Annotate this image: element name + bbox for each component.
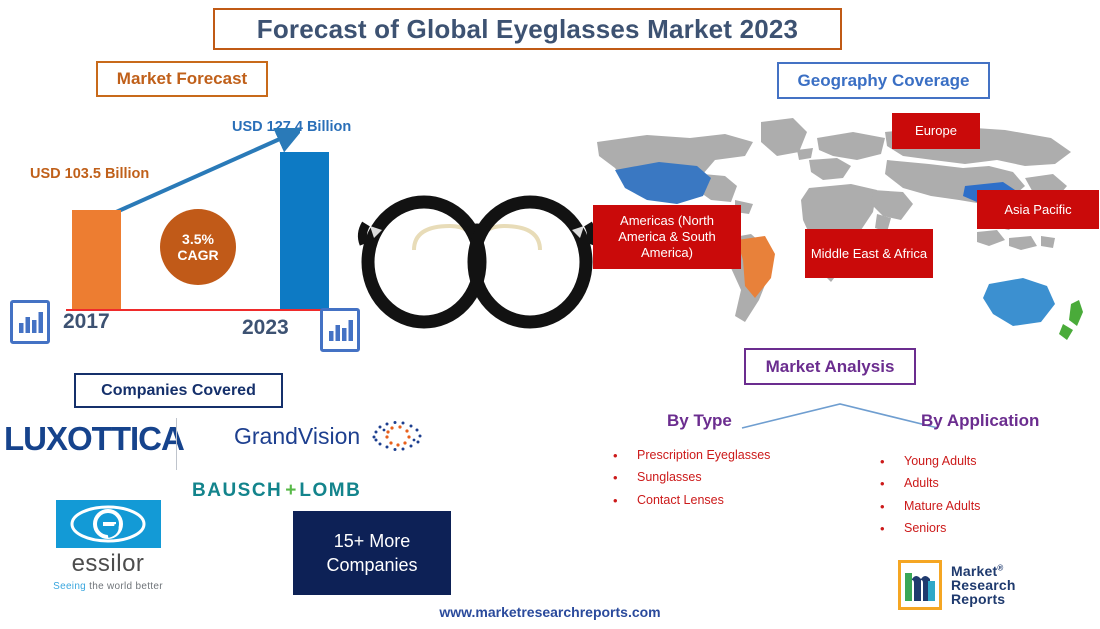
list-item: Prescription Eyeglasses — [605, 444, 770, 466]
region-label-americas: Americas (North America & South America) — [593, 205, 741, 269]
cagr-badge: 3.5% CAGR — [160, 209, 236, 285]
section-header-market-analysis-label: Market Analysis — [766, 357, 895, 377]
growth-arrow-icon — [110, 128, 300, 218]
analysis-connector-line — [740, 400, 940, 430]
list-item: Seniors — [872, 517, 980, 539]
logo-divider — [176, 418, 177, 470]
bar-2017 — [72, 210, 121, 310]
logo-grandvision: GrandVision — [234, 418, 454, 454]
axis-label-2017: 2017 — [63, 310, 110, 334]
logo-luxottica-text: LUXOTTICA — [4, 420, 179, 458]
logo-bausch-lomb: BAUSCH + LOMB — [192, 478, 392, 504]
section-header-geography-label: Geography Coverage — [798, 71, 970, 91]
section-header-market-forecast-label: Market Forecast — [117, 69, 247, 89]
logo-luxottica: LUXOTTICA — [4, 420, 179, 466]
list-item: Sunglasses — [605, 466, 770, 488]
bar-2023 — [280, 152, 329, 310]
section-header-companies-label: Companies Covered — [101, 382, 256, 400]
registered-mark-icon: ® — [997, 563, 1003, 572]
essilor-wordmark: essilor — [38, 550, 178, 578]
essilor-tagline-gray: the world better — [86, 581, 163, 592]
by-type-heading: By Type — [667, 411, 732, 431]
market-research-reports-logo: Market® Research Reports — [898, 557, 1088, 613]
list-item: Young Adults — [872, 450, 980, 472]
cagr-percent: 3.5% — [182, 231, 214, 247]
by-type-list: Prescription Eyeglasses Sunglasses Conta… — [605, 444, 770, 511]
mrr-line-2: Research — [951, 578, 1016, 592]
bar-chart-icon — [10, 300, 50, 344]
region-label-middle-east-africa: Middle East & Africa — [805, 229, 933, 278]
mrr-line-1: Market® — [951, 564, 1016, 578]
region-label-europe: Europe — [892, 113, 980, 149]
mrr-monogram-icon — [898, 560, 942, 610]
axis-label-2023: 2023 — [242, 316, 289, 340]
logo-essilor: essilor Seeing the world better — [38, 500, 178, 598]
logo-bausch-word1: BAUSCH — [192, 480, 282, 502]
logo-bausch-word2: LOMB — [299, 480, 361, 502]
infographic-page: Forecast of Global Eyeglasses Market 202… — [0, 0, 1100, 629]
grandvision-eye-icon — [370, 419, 426, 453]
essilor-tagline-blue: Seeing — [53, 581, 86, 592]
more-companies-badge: 15+ More Companies — [293, 511, 451, 595]
list-item: Adults — [872, 472, 980, 494]
list-item: Mature Adults — [872, 495, 980, 517]
section-header-companies-covered: Companies Covered — [74, 373, 283, 408]
list-item: Contact Lenses — [605, 489, 770, 511]
page-title: Forecast of Global Eyeglasses Market 202… — [213, 8, 842, 50]
essilor-eye-icon — [56, 500, 161, 548]
section-header-market-forecast: Market Forecast — [96, 61, 268, 97]
by-application-list: Young Adults Adults Mature Adults Senior… — [872, 450, 980, 539]
logo-grandvision-text: GrandVision — [234, 423, 360, 450]
section-header-geography-coverage: Geography Coverage — [777, 62, 990, 99]
essilor-tagline: Seeing the world better — [38, 581, 178, 592]
mrr-line-3: Reports — [951, 592, 1016, 606]
region-label-asia-pacific: Asia Pacific — [977, 190, 1099, 229]
eyeglasses-illustration — [352, 186, 602, 338]
mrr-wordmark: Market® Research Reports — [951, 564, 1016, 607]
cagr-label: CAGR — [177, 247, 218, 263]
plus-icon: + — [282, 480, 299, 502]
section-header-market-analysis: Market Analysis — [744, 348, 916, 385]
by-application-heading: By Application — [921, 411, 1039, 431]
market-forecast-chart: USD 103.5 Billion USD 127.4 Billion 3.5%… — [0, 110, 360, 355]
page-title-text: Forecast of Global Eyeglasses Market 202… — [257, 14, 798, 45]
